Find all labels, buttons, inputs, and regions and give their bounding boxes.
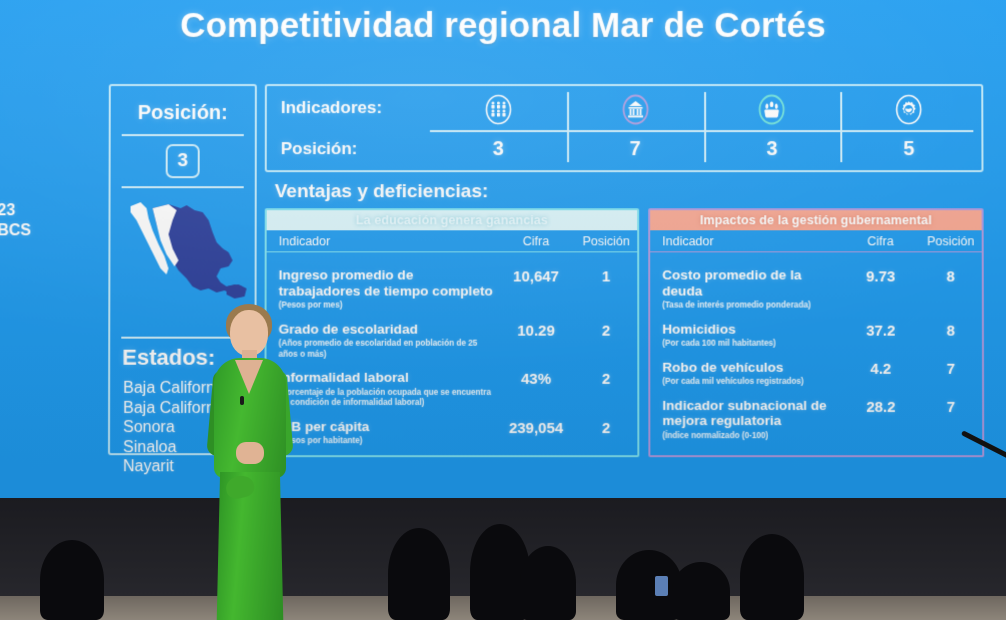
row-cifra: 239,054 xyxy=(497,418,575,436)
row-posicion: 8 xyxy=(920,267,982,285)
indicators-card: Indicadores: Posición: xyxy=(265,84,984,172)
presenter-person xyxy=(196,300,304,620)
section-title: Ventajas y deficiencias: xyxy=(275,181,489,203)
row-indicator-sub: (Tasa de interés promedio ponderada) xyxy=(662,301,841,312)
row-indicator-name: Grado de escolaridad xyxy=(279,321,497,337)
row-indicator-name: Robo de vehículos xyxy=(662,359,841,375)
indicator-position-value: 3 xyxy=(430,130,567,168)
row-indicator-sub: (Años promedio de escolaridad en poblaci… xyxy=(279,339,497,360)
indicator-position-value: 5 xyxy=(841,130,978,168)
table-row: Ingreso promedio de trabajadores de tiem… xyxy=(267,260,638,314)
row-posicion: 2 xyxy=(575,370,637,388)
table-row: Grado de escolaridad (Años promedio de e… xyxy=(267,314,638,363)
row-cifra: 4.2 xyxy=(842,359,920,377)
table-row: Indicador subnacional de mejora regulato… xyxy=(650,390,982,444)
row-indicator-sub: (Pesos por mes) xyxy=(279,301,497,312)
table-educacion: La educación genera ganancias Indicador … xyxy=(264,208,639,457)
row-cifra: 10.29 xyxy=(497,321,575,339)
row-indicator-sub: (Índice normalizado (0-100) xyxy=(662,431,841,442)
indicator-position-value: 7 xyxy=(567,130,704,168)
indicators-position-label: Posición: xyxy=(281,139,358,159)
column-header-cifra: Cifra xyxy=(497,234,575,248)
hand-wheat-icon xyxy=(704,88,841,130)
row-indicator-sub: (Por cada mil vehículos registrados) xyxy=(662,377,841,388)
row-indicator-name: Homicidios xyxy=(662,321,841,337)
indicator-column-3: 3 xyxy=(704,88,841,168)
table-gestion-gubernamental: Impactos de la gestión gubernamental Ind… xyxy=(648,208,984,457)
row-indicator-name: Costo promedio de la deuda xyxy=(662,267,841,298)
audience-head xyxy=(672,562,730,620)
row-posicion: 2 xyxy=(575,418,637,436)
indicator-position-value: 3 xyxy=(704,130,841,168)
audience-phone-screen xyxy=(655,576,668,596)
row-cifra: 28.2 xyxy=(842,397,920,415)
row-indicator-name: Informalidad laboral xyxy=(279,370,497,386)
table-header-row: Indicador Cifra Posición xyxy=(267,230,638,252)
row-posicion: 2 xyxy=(575,321,637,339)
row-cifra: 43% xyxy=(497,370,575,388)
audience-head xyxy=(40,540,104,620)
audience-head xyxy=(388,528,450,620)
table-row: Informalidad laboral (Porcentaje de la p… xyxy=(266,363,637,412)
indicator-column-1: 3 xyxy=(430,88,567,168)
column-header-indicador: Indicador xyxy=(650,234,841,248)
table-band-title: La educación genera ganancias xyxy=(267,210,637,230)
row-cifra: 9.73 xyxy=(842,267,920,285)
edge-fragment-year: 23 xyxy=(0,202,15,220)
position-label: Posición: xyxy=(111,102,255,125)
gear-globe-icon xyxy=(840,88,977,130)
row-indicator-sub: (Porcentaje de la población ocupada que … xyxy=(278,387,497,408)
people-group-icon xyxy=(430,88,567,130)
conference-stage-photo: Competitividad regional Mar de Cortés 23… xyxy=(0,0,1006,620)
column-header-posicion: Posición xyxy=(920,234,982,248)
position-value-badge: 3 xyxy=(166,144,200,178)
row-indicator-sub: (Por cada 100 mil habitantes) xyxy=(662,339,841,350)
government-building-icon xyxy=(567,88,704,130)
column-header-posicion: Posición xyxy=(575,234,637,248)
row-cifra: 10,647 xyxy=(497,267,575,285)
row-indicator-name: PIB per cápita xyxy=(278,418,497,434)
table-band-title: Impactos de la gestión gubernamental xyxy=(650,210,981,230)
presenter-hands xyxy=(236,442,264,464)
table-row: PIB per cápita (Pesos por habitante) 239… xyxy=(266,411,637,449)
column-header-cifra: Cifra xyxy=(841,234,919,248)
column-header-indicador: Indicador xyxy=(267,234,497,248)
row-indicator-sub: (Pesos por habitante) xyxy=(278,436,497,447)
table-row: Homicidios (Por cada 100 mil habitantes)… xyxy=(650,314,982,352)
table-header-row: Indicador Cifra Posición xyxy=(650,230,981,252)
divider xyxy=(122,186,244,188)
indicator-column-2: 7 xyxy=(567,88,704,168)
indicators-label: Indicadores: xyxy=(281,98,382,118)
table-body: Ingreso promedio de trabajadores de tiem… xyxy=(266,252,637,449)
table-body: Costo promedio de la deuda (Tasa de inte… xyxy=(650,252,982,444)
projection-screen: Competitividad regional Mar de Cortés 23… xyxy=(0,0,1006,507)
row-posicion: 8 xyxy=(920,321,982,339)
indicator-column-4: 5 xyxy=(840,88,977,168)
audience-head xyxy=(740,534,804,620)
row-posicion: 7 xyxy=(920,397,982,415)
table-row: Robo de vehículos (Por cada mil vehículo… xyxy=(650,352,982,390)
row-indicator-name: Indicador subnacional de mejora regulato… xyxy=(662,397,841,428)
edge-fragment-bcs: BCS xyxy=(0,222,31,240)
slide-title: Competitividad regional Mar de Cortés xyxy=(0,6,1006,46)
row-posicion: 7 xyxy=(920,359,982,377)
row-indicator-name: Ingreso promedio de trabajadores de tiem… xyxy=(279,267,497,298)
divider xyxy=(122,134,244,136)
lapel-microphone xyxy=(240,396,244,405)
row-cifra: 37.2 xyxy=(842,321,920,339)
row-posicion: 1 xyxy=(575,267,637,285)
audience-head xyxy=(520,546,576,620)
table-row: Costo promedio de la deuda (Tasa de inte… xyxy=(650,260,982,314)
